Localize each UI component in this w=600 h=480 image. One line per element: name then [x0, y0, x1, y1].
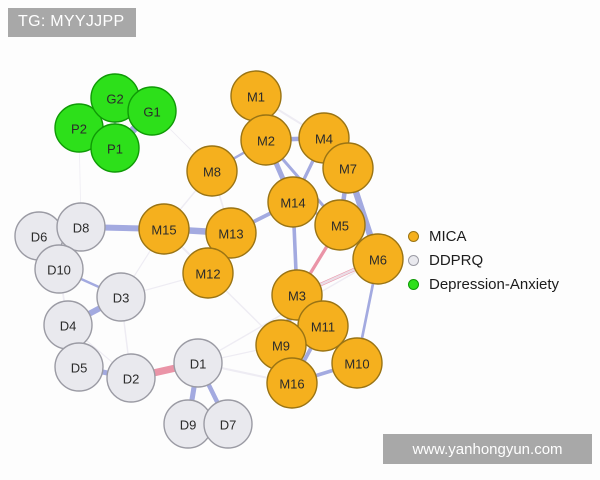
- node-circle[interactable]: [332, 338, 382, 388]
- node-circle[interactable]: [174, 339, 222, 387]
- graph-node-m12[interactable]: M12: [183, 248, 233, 298]
- node-circle[interactable]: [353, 234, 403, 284]
- graph-node-m1[interactable]: M1: [231, 71, 281, 121]
- watermark-text: www.yanhongyun.com: [412, 441, 562, 458]
- legend-item-mica: MICA: [404, 228, 559, 244]
- graph-node-m16[interactable]: M16: [267, 358, 317, 408]
- legend-item-depression-anxiety: Depression-Anxiety: [404, 276, 559, 292]
- graph-node-d7[interactable]: D7: [204, 400, 252, 448]
- legend-item-ddprq: DDPRQ: [404, 252, 559, 268]
- legend-swatch-ddprq: [408, 255, 419, 266]
- node-circle[interactable]: [35, 245, 83, 293]
- graph-node-d10[interactable]: D10: [35, 245, 83, 293]
- legend-label-depression-anxiety: Depression-Anxiety: [429, 276, 559, 293]
- graph-node-d3[interactable]: D3: [97, 273, 145, 321]
- legend: MICA DDPRQ Depression-Anxiety: [404, 228, 559, 292]
- node-circle[interactable]: [97, 273, 145, 321]
- graph-node-d8[interactable]: D8: [57, 203, 105, 251]
- node-circle[interactable]: [204, 400, 252, 448]
- graph-node-m6[interactable]: M6: [353, 234, 403, 284]
- node-circle[interactable]: [231, 71, 281, 121]
- graph-node-m2[interactable]: M2: [241, 115, 291, 165]
- graph-node-m5[interactable]: M5: [315, 200, 365, 250]
- node-circle[interactable]: [241, 115, 291, 165]
- node-circle[interactable]: [128, 87, 176, 135]
- graph-node-m10[interactable]: M10: [332, 338, 382, 388]
- node-circle[interactable]: [55, 343, 103, 391]
- node-circle[interactable]: [323, 143, 373, 193]
- node-circle[interactable]: [139, 204, 189, 254]
- graph-node-d1[interactable]: D1: [174, 339, 222, 387]
- graph-node-g1[interactable]: G1: [128, 87, 176, 135]
- node-circle[interactable]: [267, 358, 317, 408]
- graph-node-d5[interactable]: D5: [55, 343, 103, 391]
- graph-node-m8[interactable]: M8: [187, 146, 237, 196]
- node-circle[interactable]: [268, 177, 318, 227]
- graph-node-m14[interactable]: M14: [268, 177, 318, 227]
- graph-node-p1[interactable]: P1: [91, 124, 139, 172]
- watermark-banner: www.yanhongyun.com: [383, 434, 592, 464]
- node-circle[interactable]: [91, 124, 139, 172]
- graph-node-d2[interactable]: D2: [107, 354, 155, 402]
- graph-node-m15[interactable]: M15: [139, 204, 189, 254]
- graph-node-m7[interactable]: M7: [323, 143, 373, 193]
- nodes-layer: P2G2G1P1M1M2M4M7M8M14M5M6M15M13M12M3M11M…: [15, 71, 403, 448]
- node-circle[interactable]: [107, 354, 155, 402]
- legend-label-mica: MICA: [429, 228, 467, 245]
- node-circle[interactable]: [187, 146, 237, 196]
- graph-node-d4[interactable]: D4: [44, 301, 92, 349]
- legend-label-ddprq: DDPRQ: [429, 252, 483, 269]
- legend-swatch-mica: [408, 231, 419, 242]
- legend-swatch-depression-anxiety: [408, 279, 419, 290]
- title-banner: TG: MYYJJPP: [8, 8, 136, 37]
- node-circle[interactable]: [44, 301, 92, 349]
- node-circle[interactable]: [315, 200, 365, 250]
- node-circle[interactable]: [183, 248, 233, 298]
- page-title: TG: MYYJJPP: [18, 13, 124, 30]
- network-graph-canvas: P2G2G1P1M1M2M4M7M8M14M5M6M15M13M12M3M11M…: [0, 0, 600, 480]
- node-circle[interactable]: [57, 203, 105, 251]
